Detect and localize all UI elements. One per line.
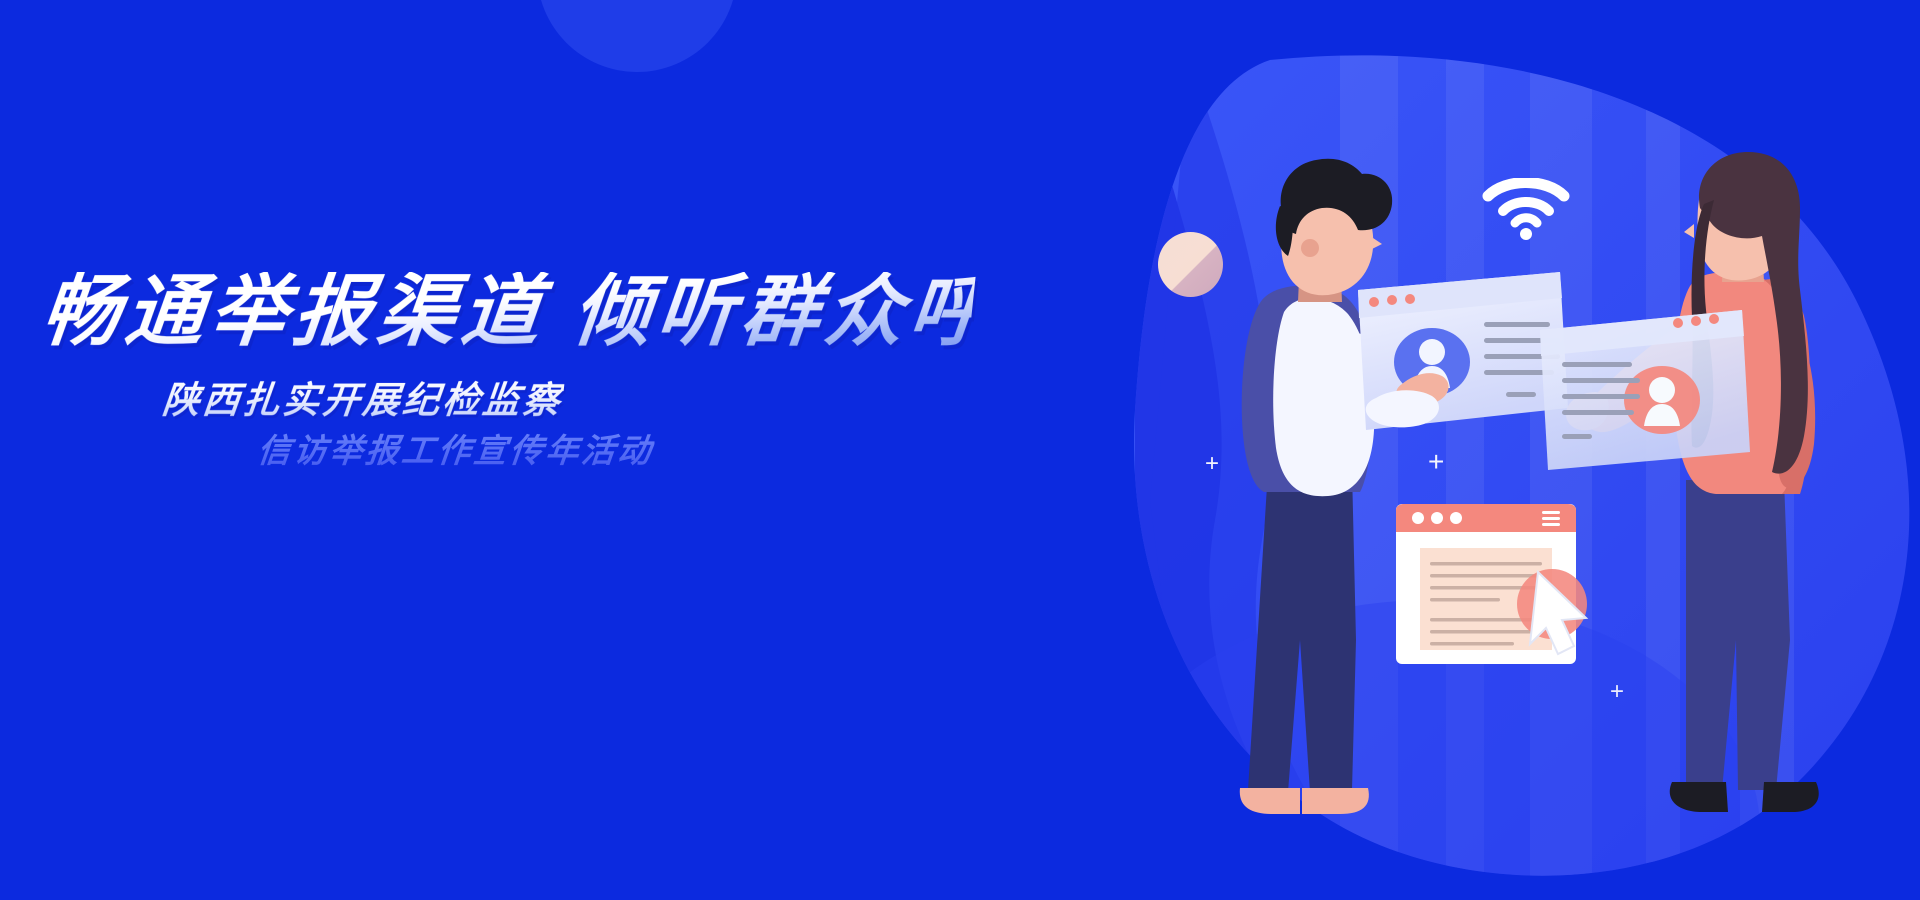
card-text-line [1506,392,1536,397]
profile-card-pink[interactable] [1540,310,1750,470]
man-figure [1240,159,1470,814]
card-text-line [1430,598,1500,602]
card-text-line [1484,322,1550,327]
card-dot-red [1387,295,1397,305]
card-dot-white [1431,512,1443,524]
card-text-line [1430,562,1542,566]
page-title: 畅通举报渠道 倾听群众呼声 [38,272,976,350]
hamburger-menu-icon[interactable] [1542,511,1560,526]
card-text-line [1430,642,1514,646]
card-text-line [1562,410,1634,415]
card-text-line [1430,630,1542,634]
subtitle-one: 陕西扎实开展纪检监察 [160,370,566,424]
profile-card-blue[interactable] [1358,272,1568,430]
card-dot-white [1412,512,1424,524]
card-text-line [1562,362,1632,367]
card-text-line [1562,378,1640,383]
card-text-line [1430,574,1542,578]
card-dot-red [1405,294,1415,304]
card-dot-red [1709,314,1719,324]
subtitle-two: 信访举报工作宣传年活动 [255,424,656,472]
card-dot-red [1369,297,1379,307]
card-dot-red [1673,318,1683,328]
card-dot-white [1450,512,1462,524]
card-dot-red [1691,316,1701,326]
card-text-line [1562,434,1592,439]
woman-figure [1566,152,1819,812]
avatar-icon-pink [1624,366,1700,434]
document-card[interactable] [1396,504,1587,664]
card-text-line [1562,394,1640,399]
banner-root: + + + [0,0,1920,900]
